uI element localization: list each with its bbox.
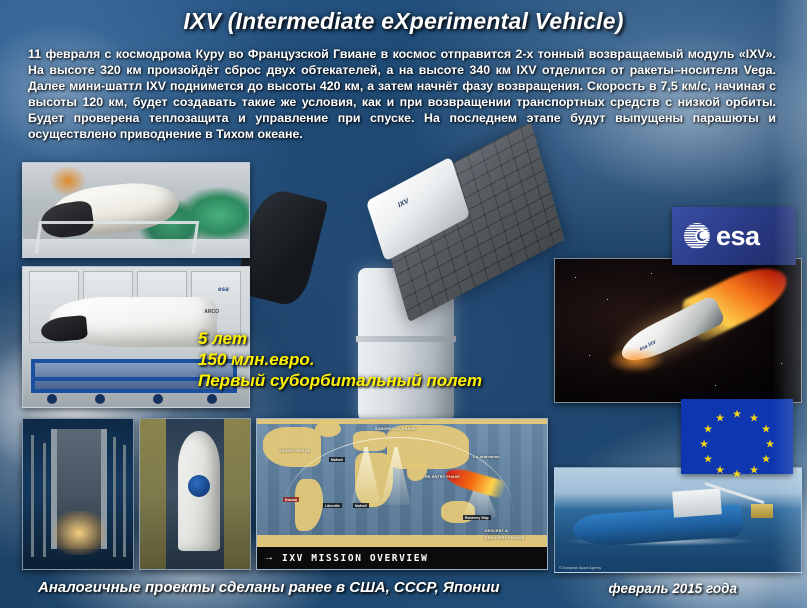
description-paragraph: 11 февраля с космодрома Куру во Французс…	[28, 46, 776, 143]
photo-ixv-technicians	[22, 162, 250, 258]
callout-line-3: Первый суборбитальный полет	[198, 370, 482, 391]
frame-wheel	[95, 394, 105, 404]
ixv-hull	[366, 157, 470, 262]
map-phase-label: ASCENT PHASE	[279, 449, 310, 453]
footer-date: февраль 2015 года	[609, 581, 737, 596]
photo-credit: © European Space Agency	[559, 566, 601, 570]
photo-vega-fairing	[139, 418, 251, 570]
esa-wordmark: esa	[716, 223, 760, 250]
frame-wheel	[47, 394, 57, 404]
map-phase-label: SUBORBITAL PHASE	[375, 427, 416, 431]
star-speck	[651, 273, 652, 274]
crane-load	[751, 504, 773, 518]
map-phase-label: RECOVERY PHASES	[485, 536, 525, 540]
ixv-decal: IXV	[397, 198, 410, 209]
star-speck	[781, 363, 782, 364]
star-speck	[589, 355, 590, 356]
world-map: ASCENT PHASE SUBORBITAL PHASE RE-ENTRY P…	[257, 419, 547, 547]
landmass-arctic	[257, 419, 547, 424]
plasma-wake	[607, 347, 665, 373]
frame-wheel	[153, 394, 163, 404]
map-site-tag: Recovery Ship	[463, 515, 491, 520]
service-platform	[140, 419, 166, 569]
slide-root: IXV IXV (Intermediate eXperimental Vehic…	[0, 0, 807, 608]
star-speck	[575, 277, 576, 278]
ship-superstructure	[672, 488, 722, 517]
gantry-mast	[123, 445, 126, 557]
european-union-flag: ★ ★ ★ ★ ★ ★ ★ ★ ★ ★ ★ ★	[681, 399, 793, 474]
star-speck	[715, 385, 716, 386]
map-banner-label: IXV MISSION OVERVIEW	[282, 553, 428, 564]
map-site-tag: Libreville	[323, 503, 342, 508]
gantry-mast	[43, 443, 46, 557]
map-phase-label: DESCENT &	[485, 529, 508, 533]
esa-decal: esa	[218, 287, 229, 293]
map-phase-label: RE-ENTRY PHASE	[425, 475, 460, 479]
photo-recovery-ship: © European Space Agency	[554, 467, 802, 573]
callout-line-1: 5 лет	[198, 328, 482, 349]
map-site-tag: Malindi	[353, 503, 369, 508]
gantry-mast	[31, 435, 34, 557]
star-speck	[607, 299, 608, 300]
support-cradle	[35, 221, 199, 253]
esa-globe-icon	[684, 223, 710, 249]
footer-note: Аналогичные проекты сделаны ранее в США,…	[38, 579, 500, 596]
map-banner: → IXV MISSION OVERVIEW	[257, 547, 547, 569]
map-site-label: Co-ordination	[473, 455, 500, 459]
photo-reentry: esa IXV	[554, 258, 802, 403]
gantry-mast	[113, 437, 116, 557]
service-platform	[224, 419, 250, 569]
ixv-heatshield-tiles	[375, 122, 564, 323]
frame-wheel	[207, 394, 217, 404]
photo-mission-map: ASCENT PHASE SUBORBITAL PHASE RE-ENTRY P…	[256, 418, 548, 570]
arrow-right-icon: →	[264, 553, 274, 563]
vega-logo-icon	[188, 475, 210, 497]
map-site-tag: Malindi	[329, 457, 345, 462]
tower-lighting-glow	[53, 511, 105, 555]
esa-logo: esa	[672, 207, 796, 265]
map-site-tag: Kourou	[283, 497, 299, 502]
arco-decal: ARCO	[204, 309, 219, 315]
callout-line-2: 150 млн.евро.	[198, 349, 482, 370]
callout-text: 5 лет 150 млн.евро. Первый суборбитальны…	[198, 328, 482, 391]
photo-vega-tower	[22, 418, 134, 570]
page-title: IXV (Intermediate eXperimental Vehicle)	[0, 8, 807, 35]
